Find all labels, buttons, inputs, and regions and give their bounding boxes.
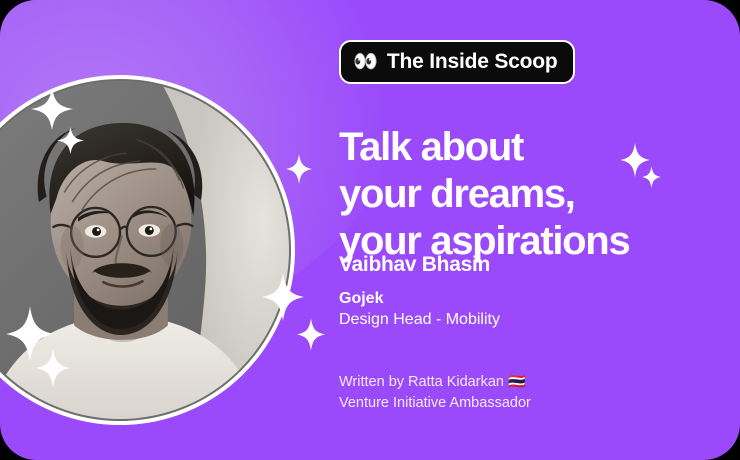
- speaker-company: Gojek: [339, 288, 500, 309]
- inside-scoop-speaker-card: 👀 The Inside Scoop Talk about your dream…: [0, 0, 740, 460]
- portrait-photo-image: [0, 79, 291, 421]
- thailand-flag-icon: 🇹🇭: [508, 373, 525, 389]
- speaker-affiliation: Gojek Design Head - Mobility: [339, 288, 500, 330]
- credit-author-title: Venture Initiative Ambassador: [339, 393, 531, 414]
- credit-author-line: Written by Ratta Kidarkan 🇹🇭: [339, 371, 531, 393]
- portrait-ring: [0, 75, 295, 425]
- credit-block: Written by Ratta Kidarkan 🇹🇭 Venture Ini…: [339, 371, 531, 414]
- content-column: 👀 The Inside Scoop Talk about your dream…: [339, 0, 719, 460]
- sparkle-icon-portrait-right-small: [297, 318, 325, 351]
- brand-badge-label: The Inside Scoop: [387, 50, 558, 74]
- headline-line-1: Talk about: [339, 124, 719, 171]
- brand-badge[interactable]: 👀 The Inside Scoop: [339, 40, 575, 84]
- headline-line-2: your dreams,: [339, 171, 719, 218]
- eyes-icon: 👀: [353, 52, 378, 72]
- speaker-portrait: [0, 75, 295, 425]
- page-title: Talk about your dreams, your aspirations: [339, 124, 719, 265]
- speaker-name: Vaibhav Bhasin: [339, 253, 490, 277]
- speaker-role: Design Head - Mobility: [339, 309, 500, 330]
- credit-author: Written by Ratta Kidarkan: [339, 374, 504, 390]
